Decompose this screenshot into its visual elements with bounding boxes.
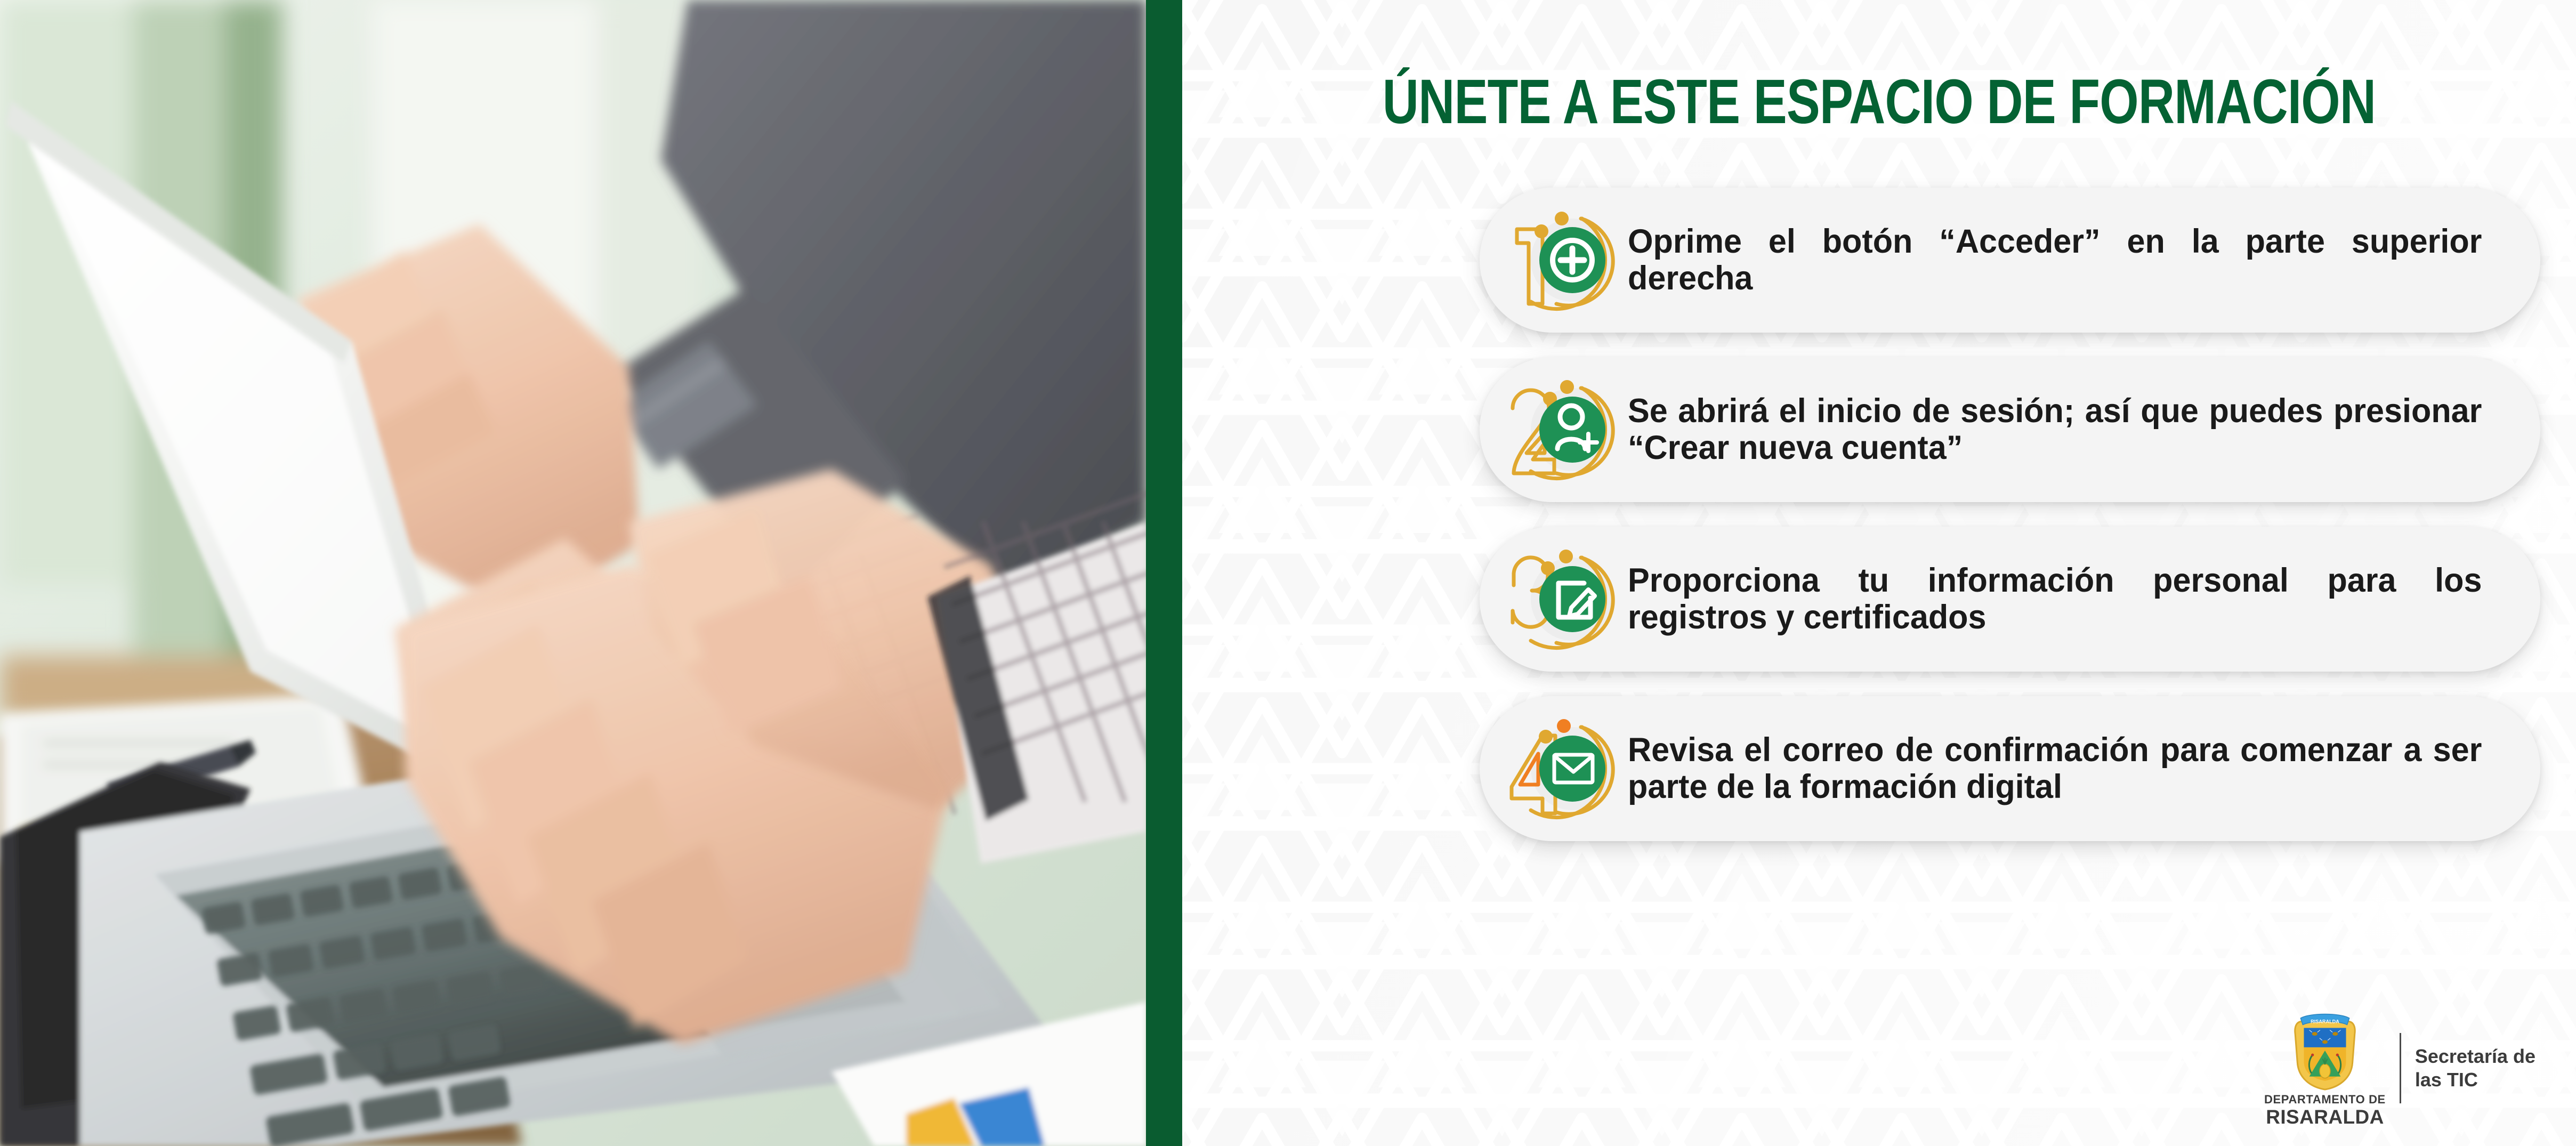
step-card-3[interactable]: Proporciona tu información personal para… <box>1480 527 2540 672</box>
step-badge-4 <box>1503 712 1616 825</box>
coat-of-arms-icon: RISARALDA <box>2284 1010 2365 1091</box>
step-badge-3 <box>1503 543 1616 656</box>
step-badge-1 <box>1503 204 1616 317</box>
edit-square-icon <box>1503 543 1616 656</box>
step-card-4[interactable]: Revisa el correo de confirmación para co… <box>1480 696 2540 841</box>
hero-photo <box>0 0 1146 1146</box>
plus-circle-icon <box>1503 204 1616 317</box>
crest-department-label: DEPARTAMENTO DE <box>2264 1093 2386 1107</box>
green-divider <box>1146 0 1182 1146</box>
secretariat-label: Secretaría de las TIC <box>2415 1045 2535 1092</box>
envelope-icon <box>1503 712 1616 825</box>
photo-illustration <box>0 0 1146 1146</box>
steps-list: Oprime el botón “Acceder” en la parte su… <box>1480 188 2540 866</box>
footer-logo: RISARALDA DEPARTAMENTO DE RISARALDA Secr… <box>2264 1010 2535 1127</box>
step-card-1[interactable]: Oprime el botón “Acceder” en la parte su… <box>1480 188 2540 333</box>
page-title: ÚNETE A ESTE ESPACIO DE FORMACIÓN <box>1322 70 2437 133</box>
crest-name-label: RISARALDA <box>2266 1107 2384 1127</box>
crest-banner-text: RISARALDA <box>2311 1019 2339 1024</box>
step-text-4: Revisa el correo de confirmación para co… <box>1628 732 2482 806</box>
promotional-banner: ÚNETE A ESTE ESPACIO DE FORMACIÓN <box>0 0 2576 1146</box>
add-user-icon <box>1503 373 1616 486</box>
content-panel: ÚNETE A ESTE ESPACIO DE FORMACIÓN <box>1182 0 2576 1146</box>
step-card-2[interactable]: Se abrirá el inicio de sesión; así que p… <box>1480 357 2540 502</box>
step-text-3: Proporciona tu información personal para… <box>1628 562 2482 636</box>
step-badge-2 <box>1503 373 1616 486</box>
step-text-1: Oprime el botón “Acceder” en la parte su… <box>1628 223 2482 297</box>
risaralda-crest-block: RISARALDA DEPARTAMENTO DE RISARALDA <box>2264 1010 2386 1127</box>
step-text-2: Se abrirá el inicio de sesión; así que p… <box>1628 393 2482 467</box>
logo-separator <box>2400 1033 2401 1103</box>
